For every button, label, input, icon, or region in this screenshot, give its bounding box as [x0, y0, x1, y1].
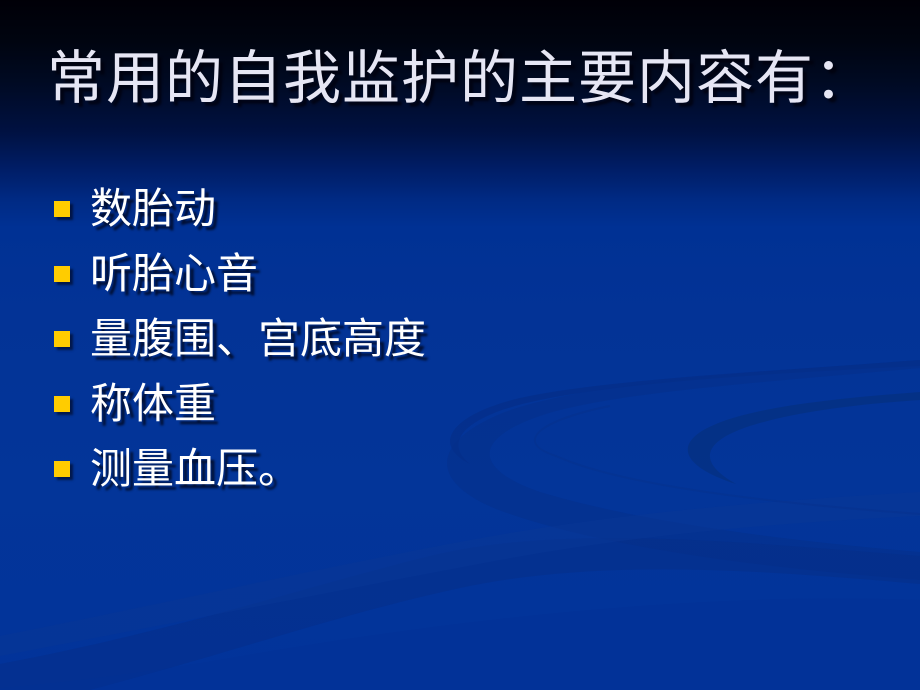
slide-title: 常用的自我监护的主要内容有：	[0, 42, 920, 114]
slide-title-text: 常用的自我监护的主要内容有：	[47, 42, 873, 114]
bullet-label: 数胎动	[90, 184, 216, 234]
square-bullet-icon	[54, 331, 70, 347]
list-item: 测量血压。	[54, 436, 854, 501]
bullet-label: 听胎心音	[90, 249, 258, 299]
list-item: 量腹围、宫底高度	[54, 306, 854, 371]
bullet-label: 测量血压。	[90, 444, 300, 494]
bullet-label: 称体重	[90, 379, 216, 429]
list-item: 称体重	[54, 371, 854, 436]
presentation-slide: 常用的自我监护的主要内容有： 数胎动 听胎心音 量腹围、宫底高度 称体重 测量血…	[0, 0, 920, 690]
list-item: 听胎心音	[54, 241, 854, 306]
square-bullet-icon	[54, 201, 70, 217]
square-bullet-icon	[54, 461, 70, 477]
bullet-label: 量腹围、宫底高度	[90, 314, 426, 364]
bullet-list: 数胎动 听胎心音 量腹围、宫底高度 称体重 测量血压。	[54, 176, 854, 501]
square-bullet-icon	[54, 266, 70, 282]
list-item: 数胎动	[54, 176, 854, 241]
square-bullet-icon	[54, 396, 70, 412]
